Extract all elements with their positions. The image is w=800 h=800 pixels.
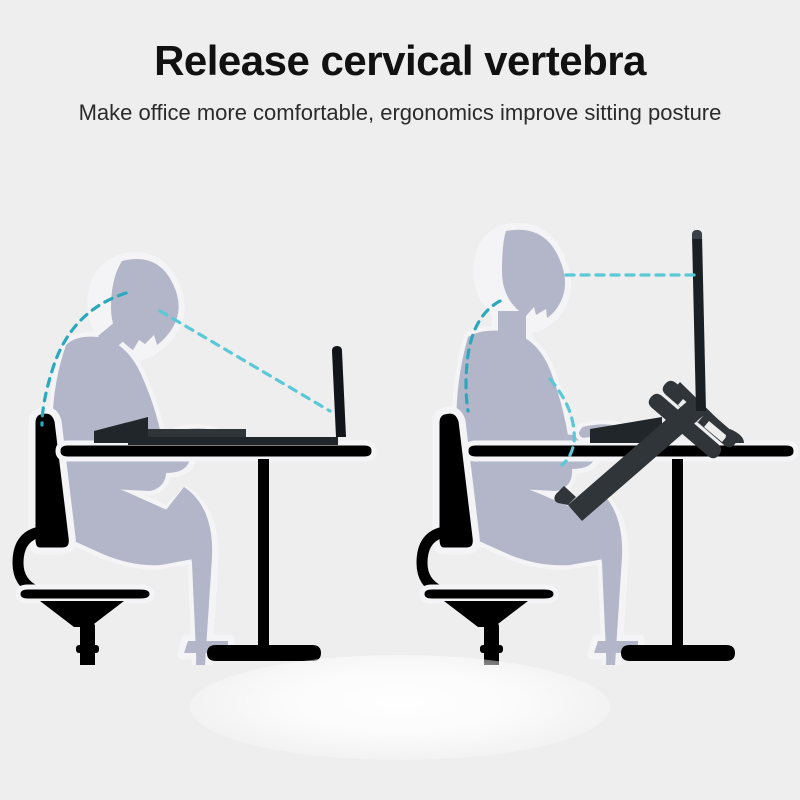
floor-reflection-glow [190,655,610,760]
bad-posture-illustration [0,215,400,665]
good-posture-illustration [400,215,800,665]
bad-posture-scene: hunched forward, head tilted down [0,215,400,665]
sightline-downward [160,311,330,411]
illustration-area: hunched forward, head tilted down [0,215,800,665]
page-subtitle: Make office more comfortable, ergonomics… [0,98,800,128]
laptop-screen [692,230,706,411]
good-posture-scene: upright, head level [400,215,800,665]
header: Release cervical vertebra Make office mo… [0,0,800,128]
laptop-flat [126,346,346,445]
page-title: Release cervical vertebra [0,36,800,86]
poster-root: Release cervical vertebra Make office mo… [0,0,800,800]
